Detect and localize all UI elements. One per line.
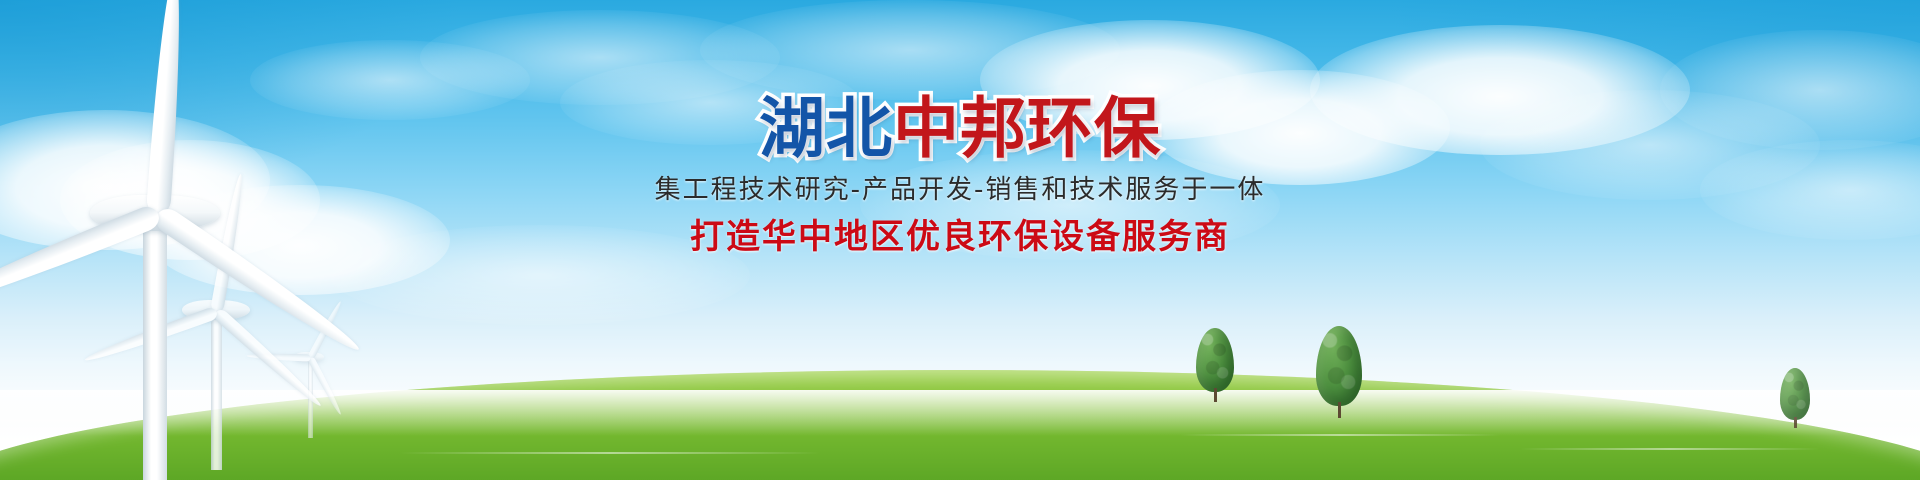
tree-trunk bbox=[1794, 417, 1797, 428]
tree-crown bbox=[1780, 368, 1810, 420]
tree-crown bbox=[1316, 326, 1362, 406]
tree bbox=[1780, 368, 1810, 428]
tree bbox=[1196, 328, 1234, 402]
tree-trunk bbox=[1338, 402, 1341, 418]
tree bbox=[1316, 326, 1362, 418]
grass-highlight bbox=[400, 452, 820, 454]
banner-text-block: 湖北中邦环保 集工程技术研究-产品开发-销售和技术服务于一体 打造华中地区优良环… bbox=[0, 96, 1920, 256]
company-hero-banner: 湖北中邦环保 集工程技术研究-产品开发-销售和技术服务于一体 打造华中地区优良环… bbox=[0, 0, 1920, 480]
headline-region: 湖北 bbox=[759, 96, 893, 162]
banner-subtitle: 集工程技术研究-产品开发-销售和技术服务于一体 bbox=[0, 176, 1920, 205]
turbine-mast bbox=[143, 220, 167, 480]
banner-tagline: 打造华中地区优良环保设备服务商 bbox=[0, 219, 1920, 256]
page-title: 湖北中邦环保 bbox=[0, 96, 1920, 162]
tree-trunk bbox=[1214, 388, 1217, 402]
headline-brand: 中邦环保 bbox=[893, 96, 1161, 162]
tree-crown bbox=[1196, 328, 1234, 392]
grass-highlight bbox=[1520, 448, 1820, 450]
